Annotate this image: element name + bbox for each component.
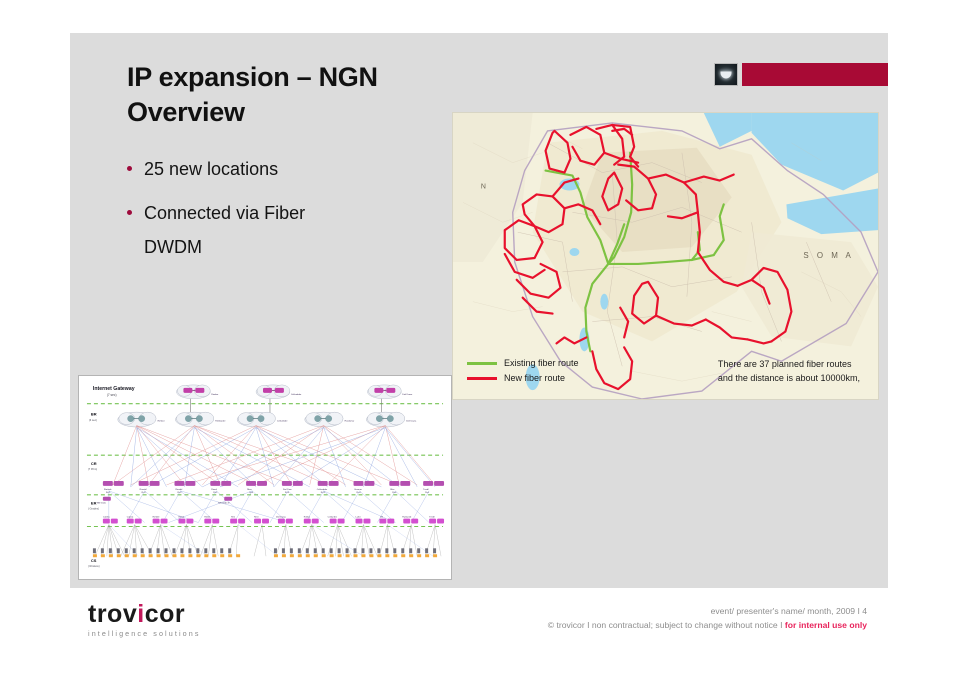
ethiopia-fiber-map: S O M A N Existing fiber route New fiber… [452, 112, 879, 400]
svg-text:Rimbr: Rimbr [204, 517, 210, 519]
tier-sub-er: ( Grades) [88, 507, 99, 511]
legend-swatch-new-icon [467, 377, 497, 380]
logo-wordmark: trovicor [88, 602, 185, 627]
svg-text:Cabrat: Cabrat [127, 516, 134, 519]
brand-logo: trovicor intelligence solutions [88, 602, 202, 638]
svg-text:Diel Daw: Diel Daw [283, 489, 292, 491]
svg-text:Trmbl: Trmbl [423, 489, 429, 491]
footer-legal-prefix: © trovicor I non contractual; subject to… [548, 620, 785, 630]
header-accent-bar [742, 63, 888, 86]
svg-text:Hardamar: Hardamar [345, 421, 355, 423]
header-thumbnail-icon [714, 63, 738, 86]
bullet-continuation-text: DWDM [144, 234, 447, 260]
legend-swatch-existing-icon [467, 362, 497, 365]
tier-sub-cs: ( Rimless) [88, 564, 100, 568]
footer-line-legal: © trovicor I non contractual; subject to… [548, 618, 867, 632]
svg-text:Caltrbs: Caltrbs [103, 516, 110, 519]
diagram-title: Internet Gateway [93, 386, 135, 392]
legend-label-new: New fiber route [504, 372, 565, 385]
svg-text:Rim: Rim [231, 517, 235, 519]
svg-text:Diel Dawa: Diel Dawa [402, 394, 413, 396]
svg-text:Cellanbder: Cellanbder [291, 394, 302, 396]
svg-text:Rimbtlr: Rimbtlr [153, 516, 160, 519]
footer-text: event/ presenter's name/ month, 2009 I 4… [548, 604, 867, 632]
svg-text:Cellanbre: Cellanbre [328, 517, 338, 519]
svg-text:Trmbl: Trmbl [429, 517, 435, 519]
tier-sub-br: (6 sec) [89, 418, 97, 422]
page-title: IP expansion – NGN Overview [127, 60, 457, 129]
svg-text:Larbr: Larbr [356, 517, 361, 519]
svg-text:Cellanbder: Cellanbder [277, 421, 288, 423]
footer-legal-highlight: for internal use only [785, 620, 867, 630]
svg-text:Diel Dawa: Diel Dawa [406, 421, 417, 423]
logo-text-before: trov [88, 600, 137, 628]
map-region-label-left: N [481, 183, 488, 190]
bullet-text: 25 new locations [144, 156, 278, 182]
logo-text-accent: i [137, 600, 144, 628]
map-legend: Existing fiber route New fiber route [467, 357, 579, 387]
map-annotation-line1: There are 37 planned fiber routes [718, 358, 860, 372]
svg-text:Diel Dawa: Diel Dawa [276, 517, 287, 519]
svg-text:Cellanbder: Cellanbder [317, 489, 328, 491]
svg-text:Harmar: Harmar [355, 489, 363, 491]
svg-text:Rimbor: Rimbor [211, 394, 218, 396]
svg-text:Rimr: Rimr [247, 489, 252, 491]
header-badge-glyph-icon [721, 71, 732, 78]
svg-text:Rimabl: Rimabl [175, 489, 182, 491]
svg-text:Bhrr: Bhrr [390, 489, 394, 491]
bullet-dot-icon [127, 166, 132, 171]
slide-root: IP expansion – NGN Overview 25 new locat… [0, 0, 955, 675]
tier-label-er: ER [91, 501, 97, 506]
tier-label-br: BR [91, 412, 97, 417]
legend-item-existing: Existing fiber route [467, 357, 579, 370]
network-topology-diagram: Internet Gateway (7 sec) BR (6 sec) CR (… [78, 375, 452, 580]
svg-text:Blr: Blr [380, 517, 383, 519]
tier-label-cs: CS [91, 558, 97, 563]
list-item: 25 new locations [127, 156, 447, 182]
svg-text:Rimbarder: Rimbarder [215, 421, 225, 423]
network-diagram-graphic: Internet Gateway (7 sec) BR (6 sec) CR (… [79, 376, 451, 579]
svg-text:NN Grids: NN Grids [97, 503, 106, 505]
svg-text:Harbamb: Harbamb [402, 517, 412, 519]
tier-label-cr: CR [91, 461, 97, 466]
svg-text:Rimbor: Rimbor [158, 421, 165, 423]
svg-text:Rimr: Rimr [254, 517, 259, 519]
svg-text:Rimal: Rimal [178, 517, 184, 519]
logo-text-after: cor [145, 600, 185, 628]
map-annotation: There are 37 planned fiber routes and th… [718, 358, 860, 385]
bullet-dot-icon [127, 210, 132, 215]
bullet-text: Connected via Fiber [144, 200, 305, 226]
legend-label-existing: Existing fiber route [504, 357, 579, 370]
svg-text:Rimal: Rimal [211, 489, 217, 491]
svg-text:NN Grids N: NN Grids N [218, 503, 230, 505]
map-region-label: S O M A [803, 251, 853, 260]
legend-item-new: New fiber route [467, 372, 579, 385]
svg-text:Rimbob: Rimbob [104, 489, 112, 491]
tier-sub-cr: (7 Prim) [88, 467, 97, 471]
bullet-list: 25 new locations Connected via Fiber DWD… [127, 156, 447, 260]
svg-text:Rimabl: Rimabl [140, 489, 147, 491]
footer-line-event: event/ presenter's name/ month, 2009 I 4 [548, 604, 867, 618]
list-item: Connected via Fiber [127, 200, 447, 226]
svg-text:Rimbo: Rimbo [304, 517, 311, 519]
logo-tagline: intelligence solutions [88, 629, 202, 638]
map-annotation-line2: and the distance is about 10000km, [718, 372, 860, 386]
diagram-title-sub: (7 sec) [107, 393, 117, 397]
